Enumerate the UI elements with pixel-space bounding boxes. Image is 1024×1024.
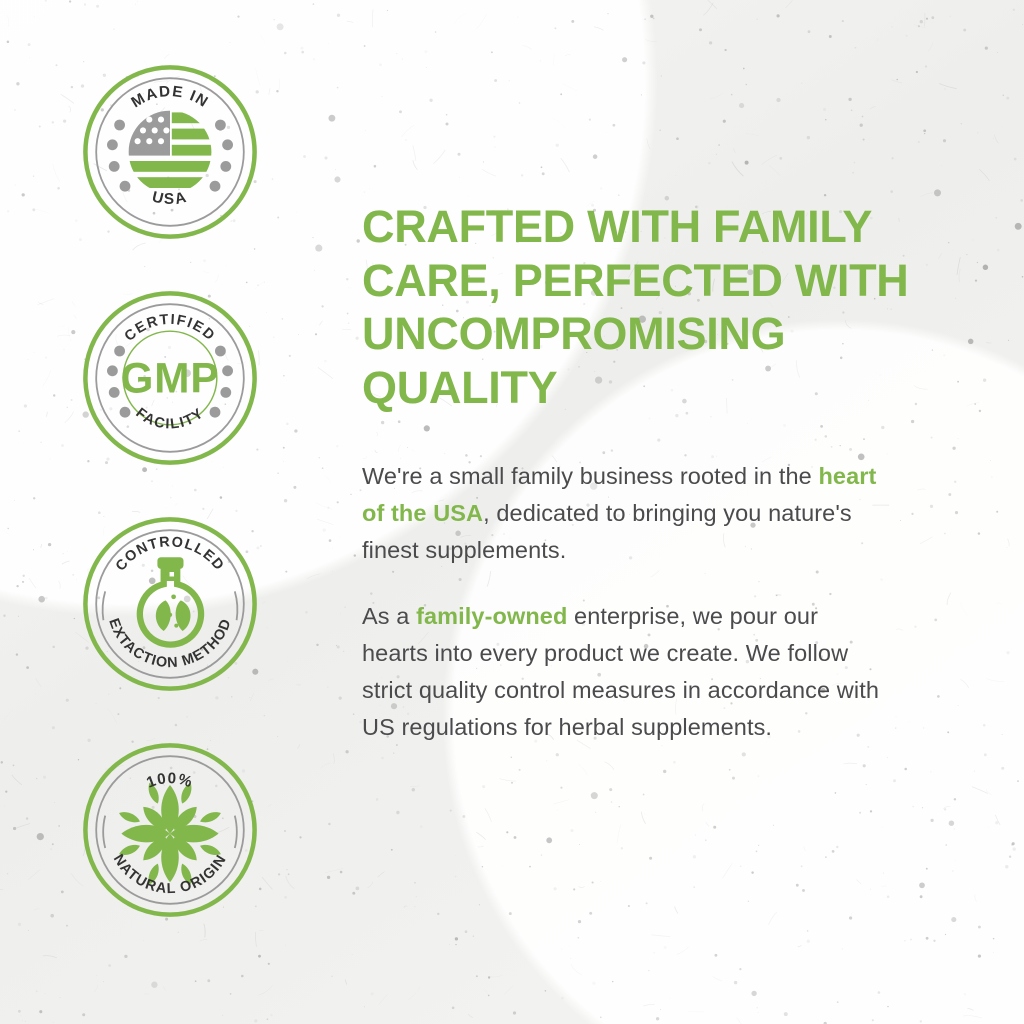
badge-controlled-extraction: CONTROLLED EXTACTION METHOD (80, 514, 260, 694)
badge-natural-origin: 100% NATURAL ORIGIN (80, 740, 260, 920)
paragraph-two: As a family-owned enterprise, we pour ou… (362, 598, 882, 747)
paragraph-two-highlight: family-owned (416, 603, 567, 629)
paragraph-one-part1: We're a small family business rooted in … (362, 463, 818, 489)
badge-top-text: MADE IN (128, 83, 211, 111)
usa-flag-circle-icon (129, 111, 214, 194)
badge-top-text: CERTIFIED (122, 312, 219, 345)
content-column: CRAFTED WITH FAMILY CARE, PERFECTED WITH… (340, 0, 1024, 1024)
paragraph-one: We're a small family business rooted in … (362, 458, 882, 569)
flask-leaf-icon (140, 557, 201, 644)
gmp-label: GMP (120, 354, 219, 401)
badge-bottom-text: FACILITY (132, 405, 207, 433)
badge-column: MADE IN USA (0, 0, 340, 1024)
page-title: CRAFTED WITH FAMILY CARE, PERFECTED WITH… (362, 200, 914, 414)
svg-text:CERTIFIED: CERTIFIED (122, 312, 219, 345)
badge-bottom-text: USA (150, 189, 189, 209)
svg-text:USA: USA (150, 189, 189, 209)
svg-text:FACILITY: FACILITY (132, 405, 207, 433)
svg-text:MADE IN: MADE IN (128, 83, 211, 111)
badge-gmp-certified: GMP CERTIFIED FACILITY (80, 288, 260, 468)
paragraph-two-part1: As a (362, 603, 416, 629)
badge-made-in-usa: MADE IN USA (80, 62, 260, 242)
